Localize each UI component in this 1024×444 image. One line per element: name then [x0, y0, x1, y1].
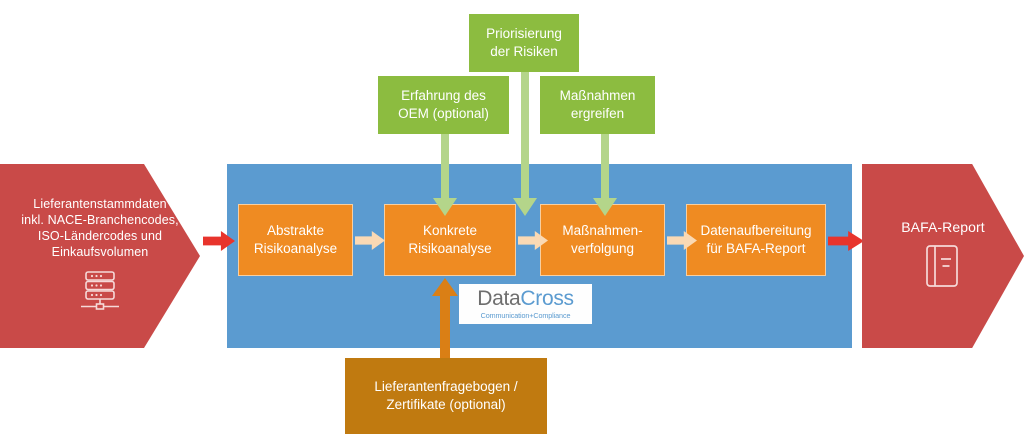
- factor-box-priorisierung-risiken[interactable]: Priorisierung der Risiken: [469, 14, 579, 72]
- logo-tagline: Communication+Compliance: [481, 311, 571, 320]
- factor-arrow-down-icon: [521, 72, 529, 200]
- process-step-massnahmenverfolgung[interactable]: Maßnahmen- verfolgung: [540, 204, 665, 276]
- factor-box-label: Maßnahmen ergreifen: [560, 87, 636, 123]
- logo-word-cross: Cross: [520, 287, 573, 310]
- process-step-abstrakte-risikoanalyse[interactable]: Abstrakte Risikoanalyse: [238, 204, 353, 276]
- process-step-label: Konkrete Risikoanalyse: [408, 222, 491, 258]
- logo-wordmark: DataCross: [477, 288, 574, 310]
- factor-box-label: Erfahrung des OEM (optional): [398, 87, 489, 123]
- input-source-label: Lieferantenstammdaten inkl. NACE-Branche…: [20, 196, 180, 260]
- process-step-datenaufbereitung[interactable]: Datenaufbereitung für BAFA-Report: [686, 204, 826, 276]
- factor-box-massnahmen-ergreifen[interactable]: Maßnahmen ergreifen: [540, 76, 655, 134]
- source-arrow-up-icon: [440, 294, 450, 358]
- process-step-label: Maßnahmen- verfolgung: [562, 222, 642, 258]
- input-source-chevron: Lieferantenstammdaten inkl. NACE-Branche…: [0, 164, 200, 348]
- source-input-box-lieferantenfragebogen[interactable]: Lieferantenfragebogen / Zertifikate (opt…: [345, 358, 547, 434]
- book-icon: [923, 243, 963, 294]
- factor-arrow-down-icon: [441, 134, 449, 200]
- datacross-logo: DataCross Communication+Compliance: [459, 284, 592, 324]
- factor-box-label: Priorisierung der Risiken: [486, 25, 562, 61]
- diagram-canvas: Lieferantenstammdaten inkl. NACE-Branche…: [0, 0, 1024, 444]
- process-step-konkrete-risikoanalyse[interactable]: Konkrete Risikoanalyse: [384, 204, 516, 276]
- output-result-label: BAFA-Report: [883, 219, 1003, 235]
- factor-box-erfahrung-oem[interactable]: Erfahrung des OEM (optional): [378, 76, 509, 134]
- source-input-label: Lieferantenfragebogen / Zertifikate (opt…: [374, 378, 517, 414]
- server-rack-icon: [78, 270, 122, 317]
- process-step-label: Datenaufbereitung für BAFA-Report: [700, 222, 811, 258]
- output-result-chevron: BAFA-Report: [862, 164, 1024, 348]
- process-step-label: Abstrakte Risikoanalyse: [254, 222, 337, 258]
- factor-arrow-down-icon: [601, 134, 609, 200]
- logo-word-data: Data: [477, 287, 520, 310]
